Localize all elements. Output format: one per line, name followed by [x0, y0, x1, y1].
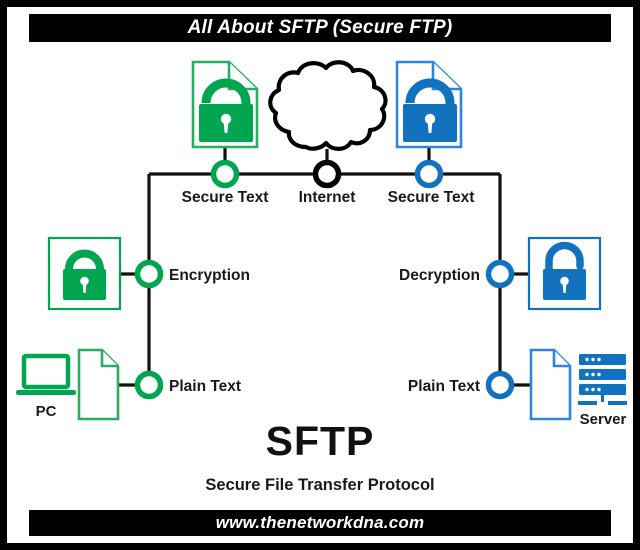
decryption-icon-box	[529, 238, 600, 309]
brand-acronym: SFTP	[266, 418, 375, 464]
server-led-1a	[585, 358, 588, 361]
label-secure-text-left: Secure Text	[182, 189, 269, 206]
server-led-3b	[591, 388, 594, 391]
node-secure-text-right[interactable]	[418, 163, 441, 186]
cloud-icon	[270, 62, 385, 149]
server-led-3a	[585, 388, 588, 391]
label-secure-text-right: Secure Text	[388, 189, 475, 206]
node-internet[interactable]	[316, 163, 339, 186]
server-stack-icon	[578, 354, 627, 403]
node-secure-text-left[interactable]	[214, 163, 237, 186]
node-encryption[interactable]	[138, 263, 161, 286]
label-server: Server	[580, 411, 627, 428]
infographic-page: All About SFTP (Secure FTP)	[0, 0, 640, 550]
secure-doc-right-icon	[397, 62, 461, 147]
server-led-1c	[597, 358, 600, 361]
page-title: All About SFTP (Secure FTP)	[29, 14, 611, 42]
brand-expansion: Secure File Transfer Protocol	[205, 476, 434, 494]
server-led-1b	[591, 358, 594, 361]
label-plain-text-left: Plain Text	[169, 378, 241, 395]
node-decryption[interactable]	[489, 263, 512, 286]
label-internet: Internet	[299, 189, 356, 206]
infographic-canvas: All About SFTP (Secure FTP)	[7, 7, 633, 543]
node-plain-text-left[interactable]	[138, 374, 161, 397]
laptop-screen	[24, 356, 68, 387]
label-plain-text-right: Plain Text	[408, 378, 480, 395]
sftp-diagram: Secure Text Internet Secure Text Encrypt…	[7, 47, 633, 502]
footer-website: www.thenetworkdna.com	[29, 510, 611, 536]
pc-laptop-icon	[16, 356, 76, 395]
laptop-base	[16, 390, 76, 395]
plain-doc-left-icon	[79, 350, 118, 419]
plain-doc-right-icon	[531, 350, 570, 419]
secure-doc-left-icon	[193, 62, 257, 147]
encryption-icon-box	[49, 238, 120, 309]
label-pc: PC	[36, 403, 57, 420]
cloud-outline	[270, 62, 385, 149]
server-led-3c	[597, 388, 600, 391]
node-plain-text-right[interactable]	[489, 374, 512, 397]
server-led-2a	[585, 373, 588, 376]
label-decryption: Decryption	[399, 267, 480, 284]
server-led-2b	[591, 373, 594, 376]
server-led-2c	[597, 373, 600, 376]
label-encryption: Encryption	[169, 267, 250, 284]
